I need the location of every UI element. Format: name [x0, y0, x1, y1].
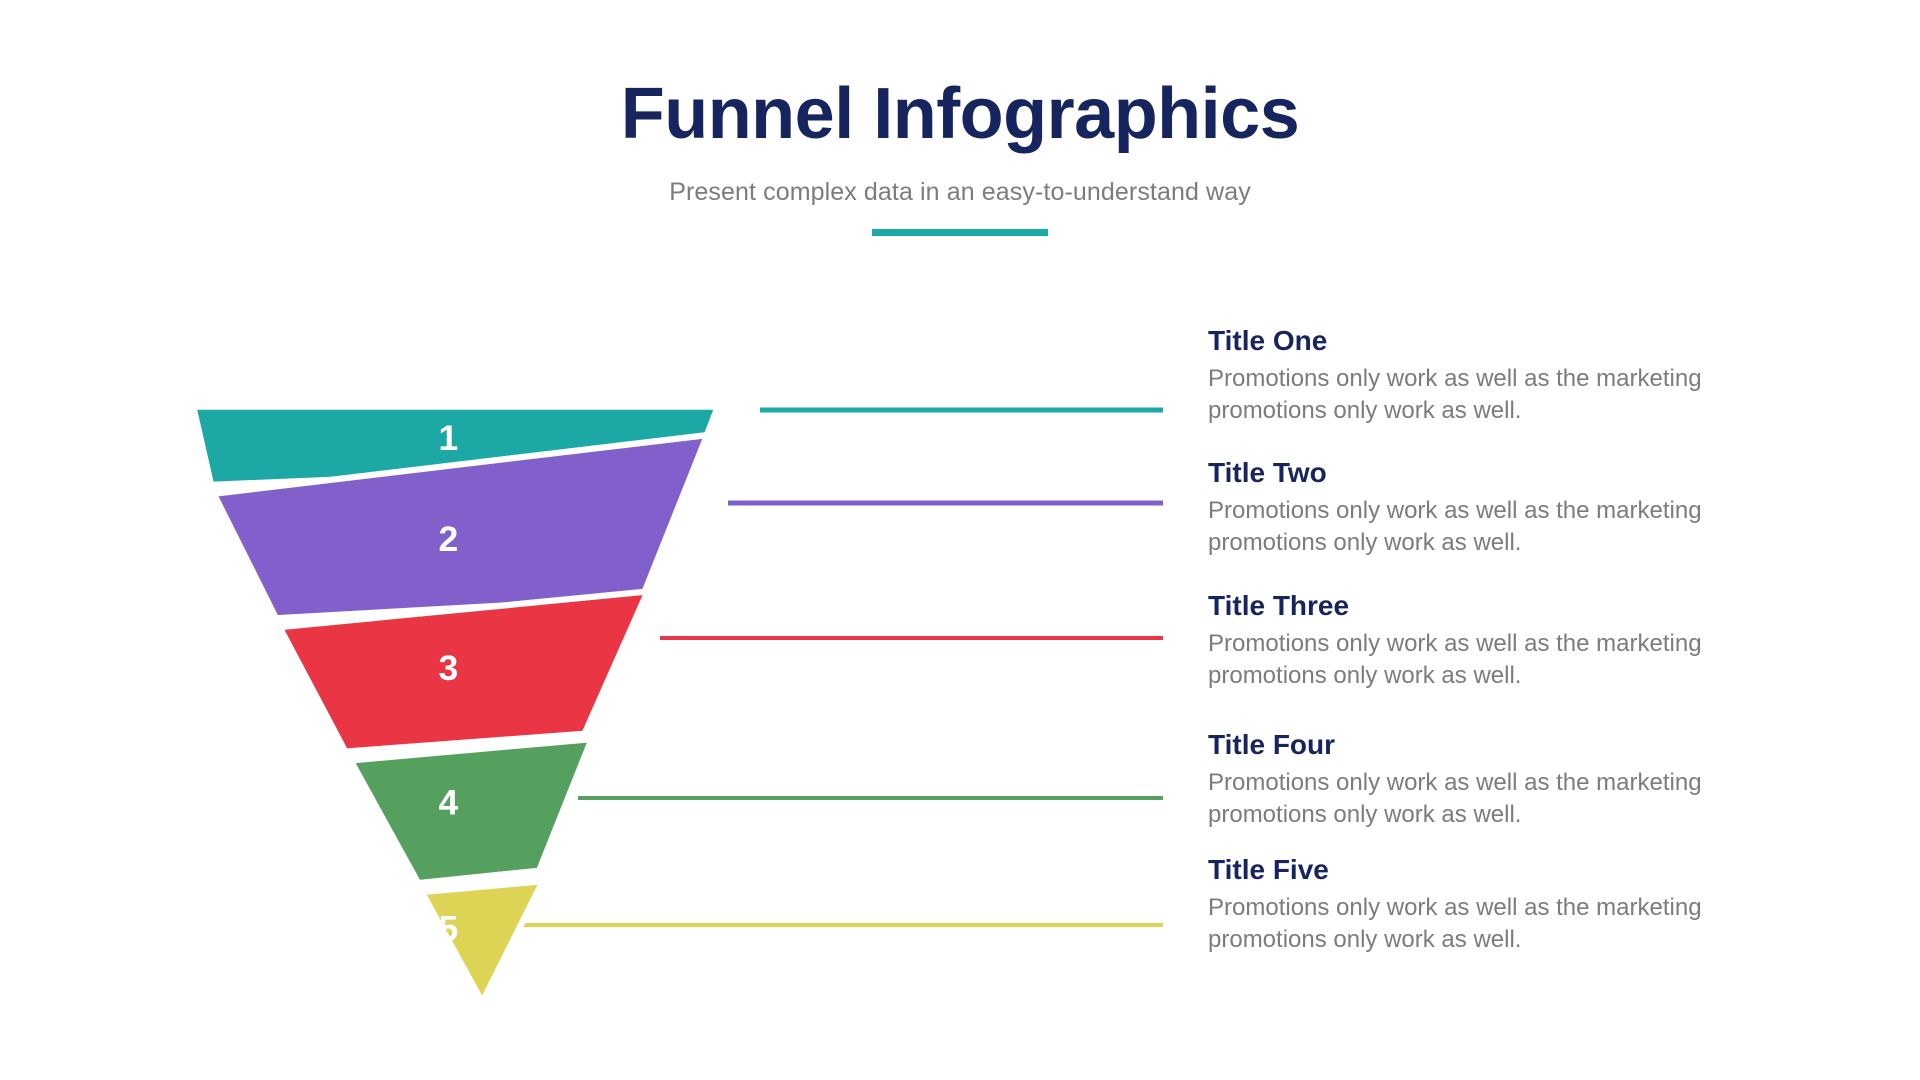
- legend-item-2[interactable]: Title Two Promotions only work as well a…: [1208, 457, 1788, 559]
- funnel-svg: 1 2 3 4 5: [120, 380, 880, 1020]
- legend-item-3-description: Promotions only work as well as the mark…: [1208, 628, 1768, 691]
- legend-item-1-description: Promotions only work as well as the mark…: [1208, 363, 1768, 426]
- funnel-segment-4-shape[interactable]: [351, 739, 592, 883]
- legend-item-4-description: Promotions only work as well as the mark…: [1208, 767, 1768, 830]
- legend-item-5-title: Title Five: [1208, 854, 1788, 886]
- legend-item-1-title: Title One: [1208, 325, 1788, 357]
- funnel-chart: 1 2 3 4 5: [120, 380, 880, 1020]
- funnel-segment-5[interactable]: 5: [422, 881, 543, 1002]
- legend-item-2-description: Promotions only work as well as the mark…: [1208, 495, 1768, 558]
- slide-canvas: Funnel Infographics Present complex data…: [0, 0, 1920, 1080]
- funnel-segment-1-number: 1: [439, 418, 459, 458]
- title-divider-rule: [872, 229, 1048, 236]
- legend-item-2-title: Title Two: [1208, 457, 1788, 489]
- legend-item-4-title: Title Four: [1208, 729, 1788, 761]
- legend-item-5[interactable]: Title Five Promotions only work as well …: [1208, 854, 1788, 956]
- funnel-segment-5-number: 5: [439, 909, 459, 949]
- funnel-segment-4-number: 4: [439, 782, 459, 822]
- funnel-segment-2-number: 2: [439, 519, 459, 559]
- legend-item-5-description: Promotions only work as well as the mark…: [1208, 892, 1768, 955]
- funnel-segment-3-number: 3: [439, 648, 459, 688]
- legend-item-1[interactable]: Title One Promotions only work as well a…: [1208, 325, 1788, 427]
- funnel-segment-4[interactable]: 4: [351, 739, 592, 883]
- funnel-legend-list: Title One Promotions only work as well a…: [1208, 0, 1808, 1080]
- legend-item-3[interactable]: Title Three Promotions only work as well…: [1208, 590, 1788, 692]
- legend-item-4[interactable]: Title Four Promotions only work as well …: [1208, 729, 1788, 831]
- legend-item-3-title: Title Three: [1208, 590, 1788, 622]
